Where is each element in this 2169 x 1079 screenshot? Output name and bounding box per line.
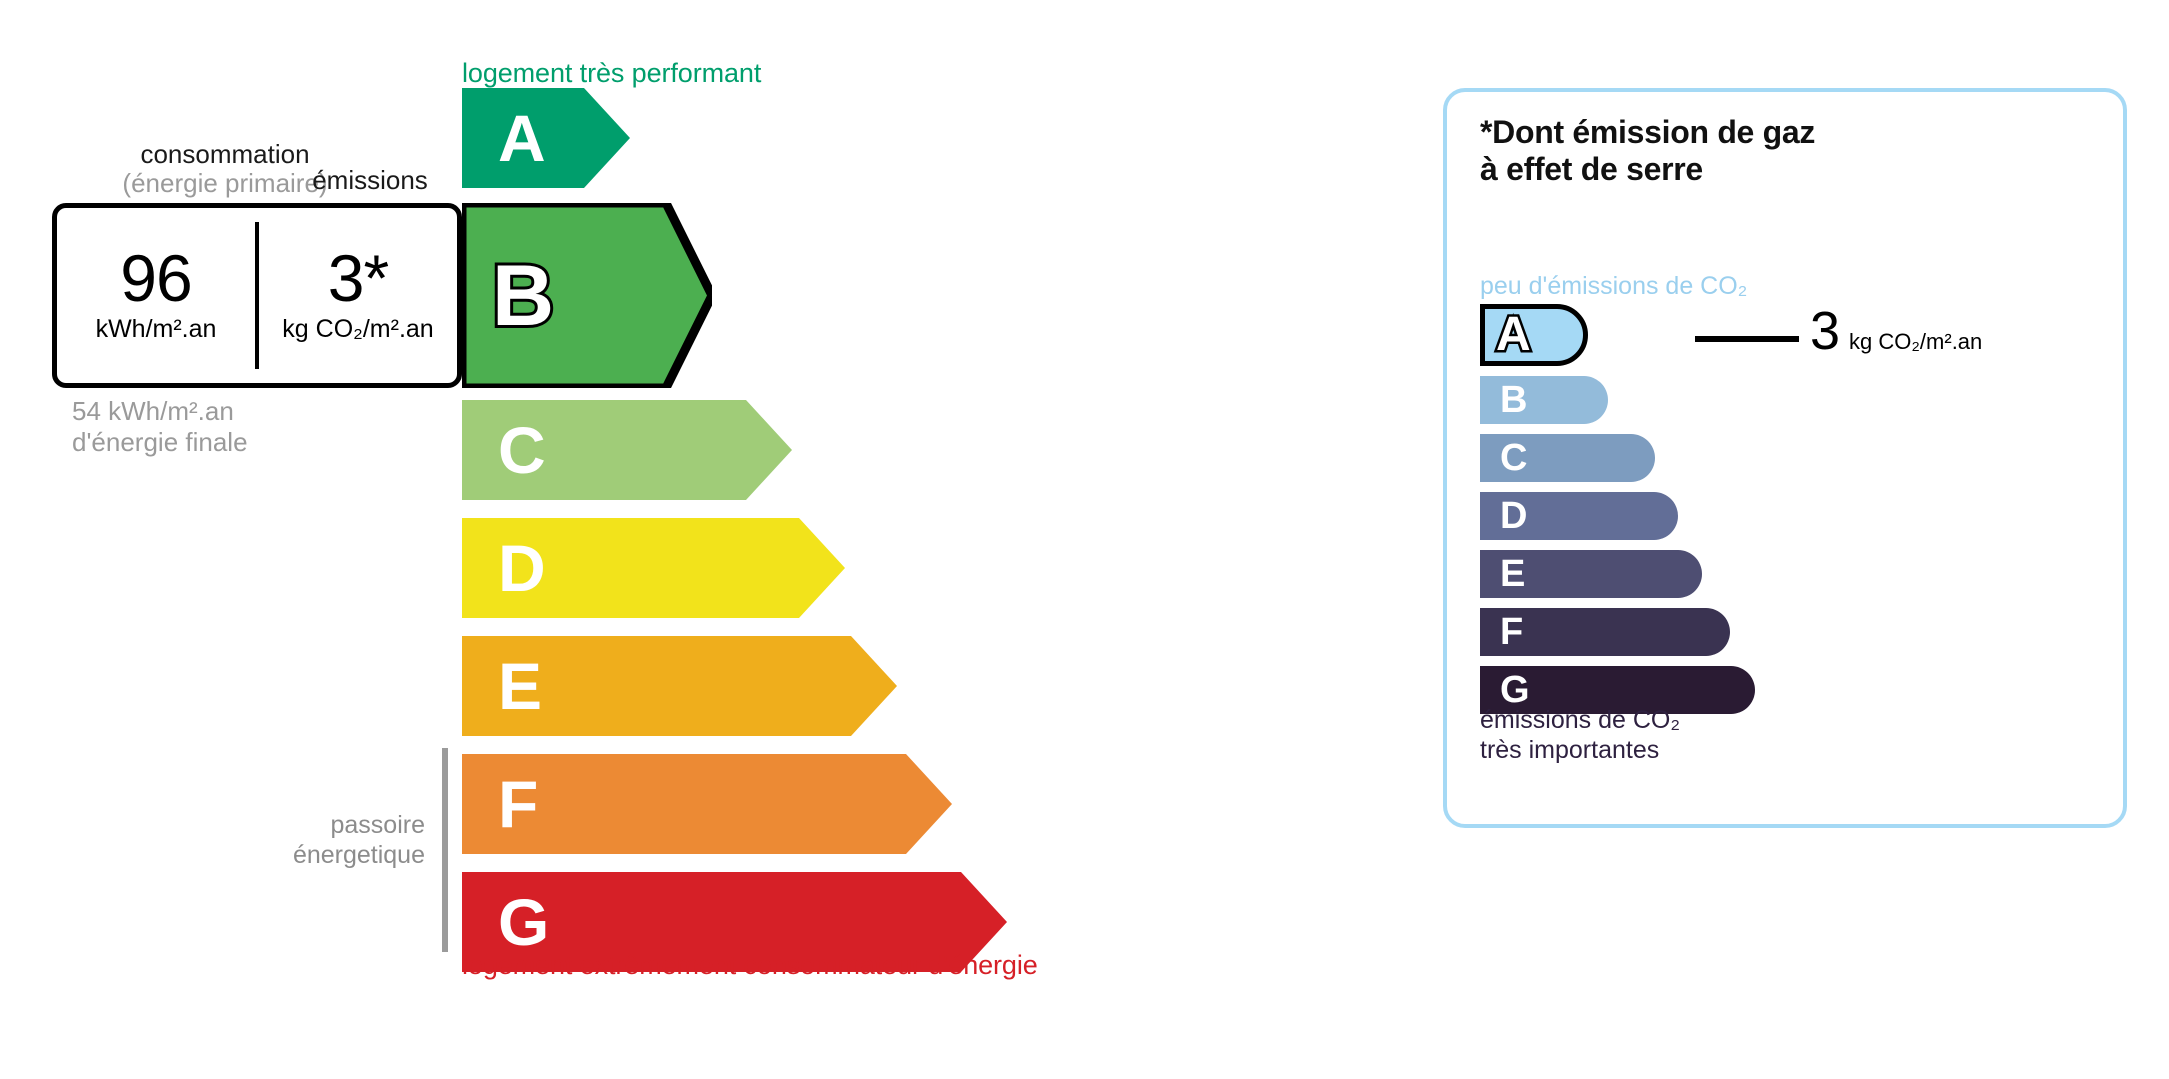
co2-leader-line (1695, 336, 1799, 342)
energy-class-letter-c: C (498, 417, 546, 483)
energy-class-letter-a: A (498, 105, 546, 171)
energy-arrow-a (462, 88, 630, 188)
energy-class-letter-f: F (498, 771, 538, 837)
co2-title-line2: à effet de serre (1480, 151, 1815, 188)
co2-class-letter-a: A (1496, 311, 1531, 359)
emissions-value-cell: 3* kg CO₂/m².an (259, 208, 457, 383)
energy-class-row-f: F (462, 754, 952, 854)
energy-class-row-e: E (462, 636, 897, 736)
co2-value-unit: kg CO₂/m².an (1849, 329, 1982, 355)
co2-bottom-caption: émissions de CO₂ très importantes (1480, 706, 1680, 765)
co2-bottom-line2: très importantes (1480, 736, 1680, 766)
energy-class-letter-b: B (492, 253, 554, 339)
emissions-value: 3* (328, 247, 388, 310)
energy-class-row-c: C (462, 400, 792, 500)
value-box: 96 kWh/m².an 3* kg CO₂/m².an (52, 203, 462, 388)
consumption-value-cell: 96 kWh/m².an (57, 208, 255, 383)
co2-title-line1: *Dont émission de gaz (1480, 114, 1815, 151)
co2-class-row-d: D (1480, 492, 1678, 540)
co2-class-row-a: A (1480, 304, 1588, 366)
dpe-energy-label: logement très performant consommation (é… (0, 0, 1360, 1079)
co2-value-readout: 3kg CO₂/m².an (1810, 304, 1982, 358)
co2-class-row-b: B (1480, 376, 1608, 424)
consumption-unit: kWh/m².an (96, 315, 217, 344)
energy-class-letter-g: G (498, 889, 549, 955)
energy-class-row-d: D (462, 518, 845, 618)
co2-class-letter-f: F (1500, 613, 1523, 651)
co2-class-row-f: F (1480, 608, 1730, 656)
co2-value-number: 3 (1810, 304, 1840, 358)
co2-panel: *Dont émission de gaz à effet de serre p… (1443, 88, 2127, 828)
co2-class-row-e: E (1480, 550, 1702, 598)
co2-class-row-c: C (1480, 434, 1655, 482)
co2-bottom-line1: émissions de CO₂ (1480, 706, 1680, 736)
energy-class-bars: ABCDEFG (0, 0, 1360, 1079)
emissions-unit: kg CO₂/m².an (282, 315, 433, 344)
co2-top-caption: peu d'émissions de CO₂ (1480, 272, 1747, 301)
co2-panel-title: *Dont émission de gaz à effet de serre (1480, 114, 1815, 188)
energy-class-row-b: B (462, 203, 712, 388)
energy-bottom-caption: logement extrêmement consommateur d'éner… (462, 950, 1038, 981)
energy-class-letter-e: E (498, 653, 542, 719)
consumption-value: 96 (120, 247, 191, 310)
energy-class-letter-d: D (498, 535, 546, 601)
co2-class-letter-b: B (1500, 381, 1527, 419)
co2-class-letter-d: D (1500, 497, 1527, 535)
energy-class-row-a: A (462, 88, 630, 188)
co2-class-letter-g: G (1500, 671, 1530, 709)
co2-class-letter-e: E (1500, 555, 1525, 593)
co2-class-letter-c: C (1500, 439, 1527, 477)
